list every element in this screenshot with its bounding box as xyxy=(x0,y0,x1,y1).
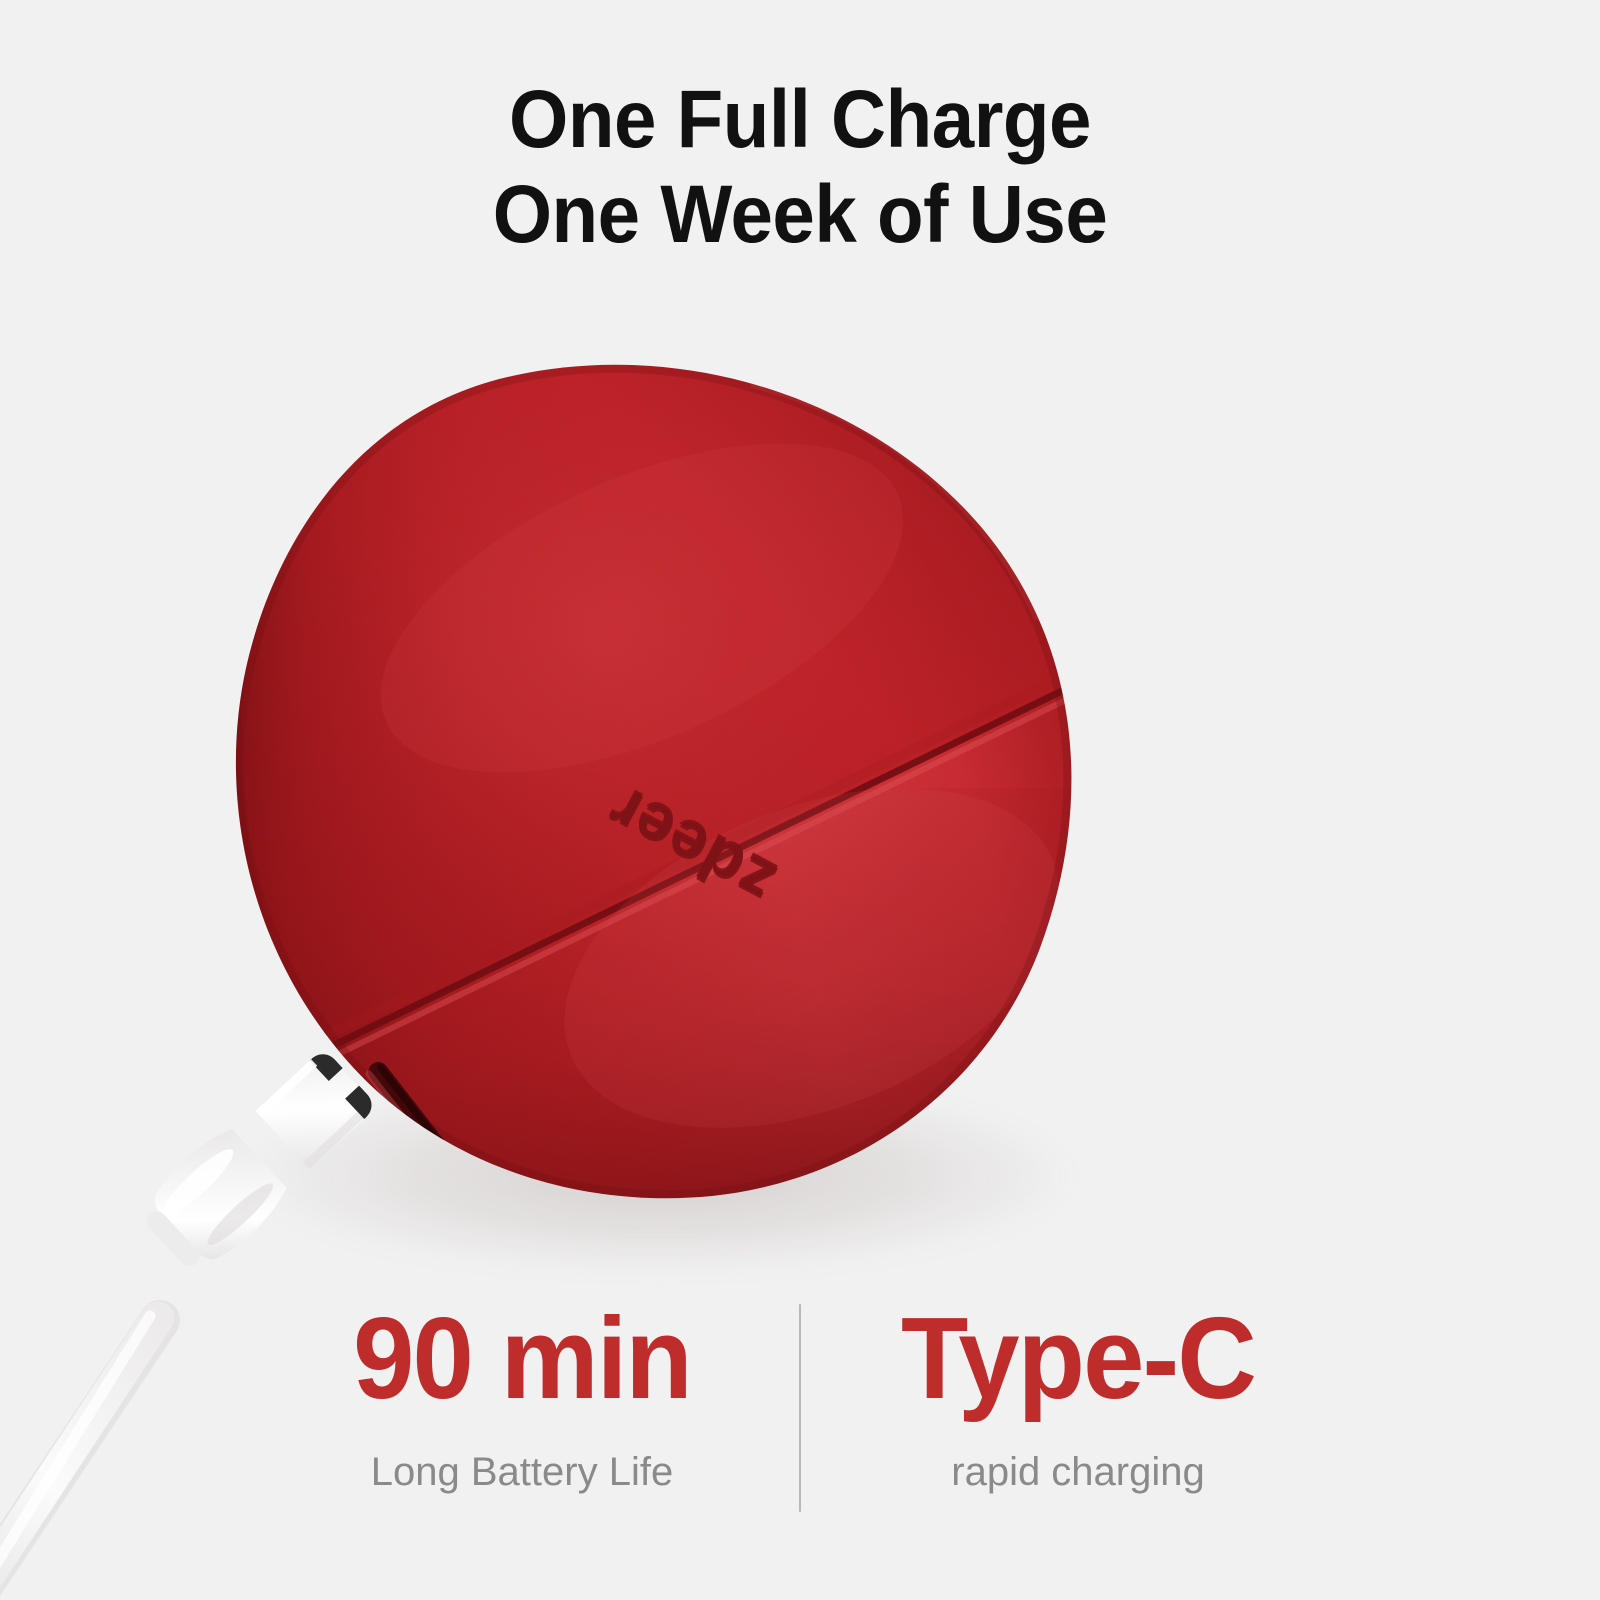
stat-charging-label: rapid charging xyxy=(843,1450,1313,1495)
stat-battery-value: 90 min xyxy=(299,1300,746,1416)
stat-charging: Type-C rapid charging xyxy=(843,1292,1313,1495)
stats-divider xyxy=(799,1304,801,1512)
feature-stats-row: 90 min Long Battery Life Type-C rapid ch… xyxy=(0,1292,1600,1542)
stat-battery-label: Long Battery Life xyxy=(287,1450,757,1495)
stat-battery: 90 min Long Battery Life xyxy=(287,1292,757,1495)
earbud-charging-case: zdeer zdeer xyxy=(212,358,1090,1210)
stat-charging-value: Type-C xyxy=(855,1300,1302,1416)
case-body: zdeer zdeer xyxy=(212,358,1109,1239)
